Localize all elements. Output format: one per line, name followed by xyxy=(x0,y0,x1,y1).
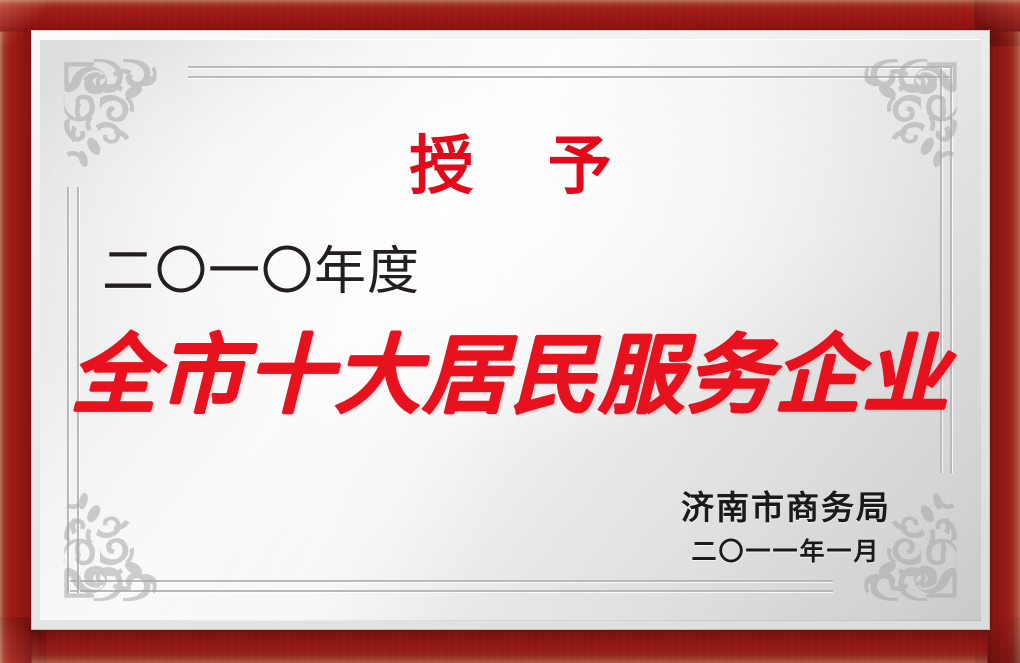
award-verb: 授 予 xyxy=(40,135,981,199)
issuing-organization: 济南市商务局 xyxy=(681,491,891,524)
award-plaque: 授 予 二〇一〇年度 全市十大居民服务企业 济南市商务局 二〇一一年一月 xyxy=(0,0,1020,663)
issue-date: 二〇一一年一月 xyxy=(681,539,891,564)
signature-block: 济南市商务局 二〇一一年一月 xyxy=(681,491,891,564)
award-year-line: 二〇一〇年度 xyxy=(102,246,420,298)
plaque-content: 授 予 二〇一〇年度 全市十大居民服务企业 济南市商务局 二〇一一年一月 xyxy=(40,39,981,621)
award-title: 全市十大居民服务企业 xyxy=(40,333,981,419)
plaque-panel: 授 予 二〇一〇年度 全市十大居民服务企业 济南市商务局 二〇一一年一月 xyxy=(40,39,981,621)
